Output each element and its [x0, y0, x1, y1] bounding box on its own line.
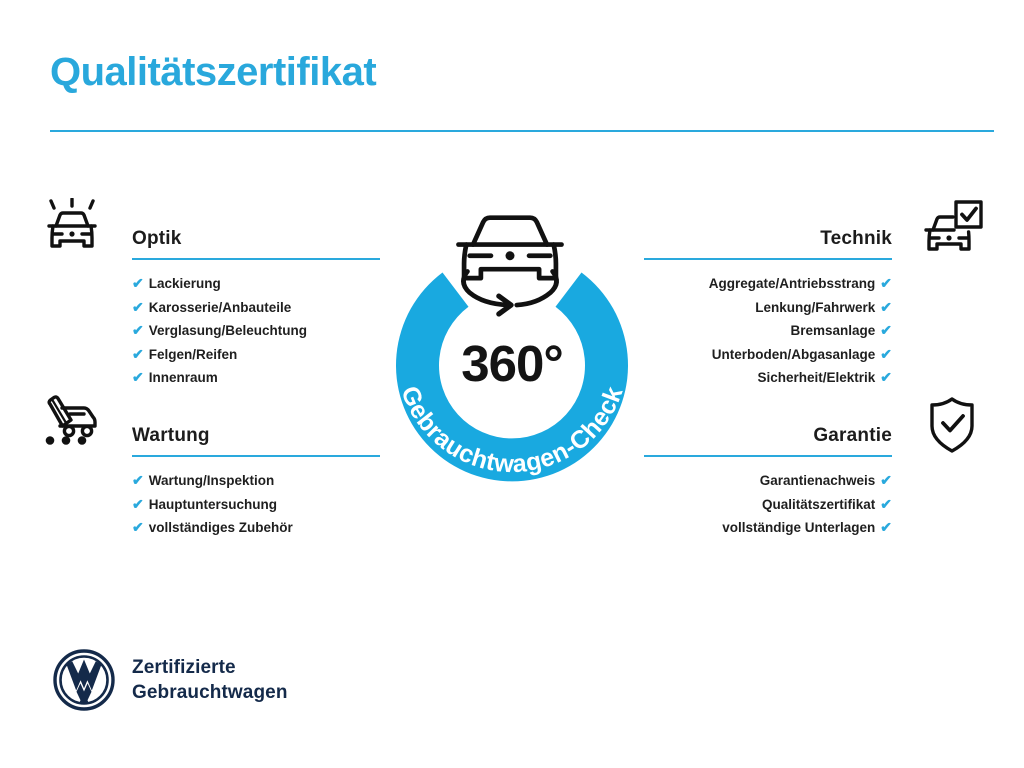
list-item: ✔Felgen/Reifen [132, 343, 380, 367]
section-wartung: Wartung ✔Wartung/Inspektion ✔Hauptunters… [40, 413, 380, 540]
list-item: ✔Wartung/Inspektion [132, 469, 380, 493]
vw-wordmark: Zertifizierte Gebrauchtwagen [132, 655, 288, 705]
list-item-label: Wartung/Inspektion [149, 473, 275, 488]
section-header: Technik [644, 216, 984, 260]
list-item: Unterboden/Abgasanlage✔ [644, 343, 892, 367]
check-icon: ✔ [132, 369, 144, 385]
section-technik: Technik Aggregate/Antriebsstrang✔ Lenkun… [644, 216, 984, 390]
title-divider [50, 130, 994, 132]
vw-logo-icon [52, 648, 116, 712]
list-item: Garantienachweis✔ [644, 469, 892, 493]
list-item: ✔Karosserie/Anbauteile [132, 296, 380, 320]
car-checkbox-icon [920, 198, 984, 260]
list-item: Bremsanlage✔ [644, 319, 892, 343]
check-icon: ✔ [880, 519, 892, 535]
list-item-label: Aggregate/Antriebsstrang [709, 276, 876, 291]
section-header: Wartung [40, 413, 380, 457]
section-rule [132, 258, 380, 260]
list-item-label: Unterboden/Abgasanlage [712, 347, 876, 362]
check-icon: ✔ [132, 519, 144, 535]
section-title-garantie: Garantie [813, 425, 892, 447]
check-icon: ✔ [880, 346, 892, 362]
list-item-label: Garantienachweis [760, 473, 876, 488]
section-optik: Optik ✔Lackierung ✔Karosserie/Anbauteile… [40, 216, 380, 390]
check-icon: ✔ [132, 496, 144, 512]
check-icon: ✔ [132, 275, 144, 291]
list-item: Aggregate/Antriebsstrang✔ [644, 272, 892, 296]
badge-360-gebrauchtwagen-check: Gebrauchtwagen-Check 360° [374, 196, 650, 488]
section-title-optik: Optik [132, 228, 182, 250]
section-header: Optik [40, 216, 380, 260]
page-title: Qualitätszertifikat [50, 50, 376, 94]
check-icon: ✔ [132, 299, 144, 315]
list-item: ✔Verglasung/Beleuchtung [132, 319, 380, 343]
list-item-label: vollständiges Zubehör [149, 520, 293, 535]
list-item: Qualitätszertifikat✔ [644, 493, 892, 517]
list-item-label: Felgen/Reifen [149, 347, 238, 362]
list-item: ✔Innenraum [132, 366, 380, 390]
section-rule [644, 258, 892, 260]
car-shine-icon [40, 198, 104, 260]
list-item-label: Lackierung [149, 276, 221, 291]
section-rule [644, 455, 892, 457]
check-icon: ✔ [880, 472, 892, 488]
list-item-label: Hauptuntersuchung [149, 497, 277, 512]
vw-wordmark-line2: Gebrauchtwagen [132, 680, 288, 705]
list-item: Lenkung/Fahrwerk✔ [644, 296, 892, 320]
list-item-label: Qualitätszertifikat [762, 497, 875, 512]
list-item-label: Karosserie/Anbauteile [149, 300, 292, 315]
check-icon: ✔ [132, 346, 144, 362]
list-item-label: Innenraum [149, 370, 218, 385]
list-item: ✔Hauptuntersuchung [132, 493, 380, 517]
check-icon: ✔ [132, 472, 144, 488]
vw-wordmark-line1: Zertifizierte [132, 655, 288, 680]
list-item: vollständige Unterlagen✔ [644, 516, 892, 540]
check-icon: ✔ [880, 299, 892, 315]
list-item-label: Sicherheit/Elektrik [757, 370, 875, 385]
checklist-garantie: Garantienachweis✔ Qualitätszertifikat✔ v… [644, 469, 984, 540]
section-header: Garantie [644, 413, 984, 457]
section-rule [132, 455, 380, 457]
pen-car-service-icon [40, 395, 104, 457]
checklist-optik: ✔Lackierung ✔Karosserie/Anbauteile ✔Verg… [40, 272, 380, 390]
list-item: ✔Lackierung [132, 272, 380, 296]
section-title-technik: Technik [820, 228, 892, 250]
check-icon: ✔ [880, 496, 892, 512]
list-item-label: Bremsanlage [790, 323, 875, 338]
check-icon: ✔ [880, 322, 892, 338]
car-rotation-icon [458, 218, 561, 314]
check-icon: ✔ [880, 369, 892, 385]
list-item: ✔vollständiges Zubehör [132, 516, 380, 540]
check-icon: ✔ [132, 322, 144, 338]
checklist-technik: Aggregate/Antriebsstrang✔ Lenkung/Fahrwe… [644, 272, 984, 390]
check-icon: ✔ [880, 275, 892, 291]
list-item-label: Lenkung/Fahrwerk [755, 300, 875, 315]
list-item-label: vollständige Unterlagen [722, 520, 875, 535]
vw-certified-logo-block: Zertifizierte Gebrauchtwagen [52, 648, 288, 712]
section-garantie: Garantie Garantienachweis✔ Qualitätszert… [644, 413, 984, 540]
section-title-wartung: Wartung [132, 425, 210, 447]
shield-check-icon [920, 395, 984, 457]
checklist-wartung: ✔Wartung/Inspektion ✔Hauptuntersuchung ✔… [40, 469, 380, 540]
list-item-label: Verglasung/Beleuchtung [149, 323, 307, 338]
list-item: Sicherheit/Elektrik✔ [644, 366, 892, 390]
badge-degrees-label: 360° [374, 334, 650, 393]
